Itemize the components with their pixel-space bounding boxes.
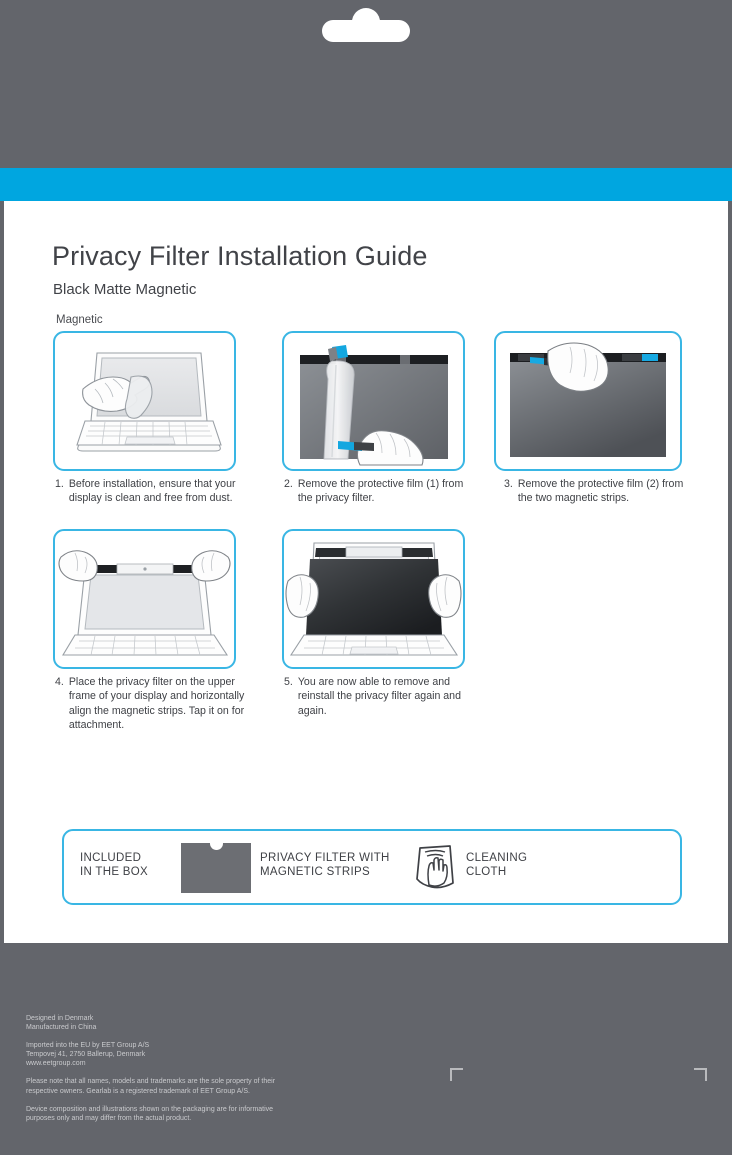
- footer-legal-text: Designed in Denmark Manufactured in Chin…: [26, 1014, 286, 1123]
- accent-band: [0, 168, 732, 201]
- step-3-number: 3.: [504, 477, 513, 506]
- step-3-illustration: [494, 331, 682, 471]
- instruction-card: Privacy Filter Installation Guide Black …: [4, 201, 728, 943]
- step-3-caption: 3. Remove the protective film (2) from t…: [504, 477, 696, 506]
- step-4-illustration: [53, 529, 236, 669]
- step-2-caption: 2. Remove the protective film (1) from t…: [284, 477, 474, 506]
- step-5-number: 5.: [284, 675, 293, 718]
- step-1-text: Before installation, ensure that your di…: [69, 477, 245, 506]
- included-in-box-panel: INCLUDED IN THE BOX PRIVACY FILTER WITH …: [62, 829, 682, 905]
- privacy-filter-sheet-icon: [181, 843, 251, 893]
- section-label: Magnetic: [56, 314, 103, 326]
- step-5-text: You are now able to remove and reinstall…: [298, 675, 474, 718]
- footer-trademark-note: Please note that all names, models and t…: [26, 1077, 286, 1095]
- step-2-text: Remove the protective film (1) from the …: [298, 477, 474, 506]
- hanger-slot-knob: [352, 8, 380, 36]
- step-2-illustration: [282, 331, 465, 471]
- step-1-illustration: [53, 331, 236, 471]
- included-item-filter-label: PRIVACY FILTER WITH MAGNETIC STRIPS: [260, 851, 390, 879]
- footer-importer: Imported into the EU by EET Group A/S Te…: [26, 1041, 286, 1068]
- footer-origin: Designed in Denmark Manufactured in Chin…: [26, 1014, 286, 1032]
- step-1-caption: 1. Before installation, ensure that your…: [55, 477, 245, 506]
- crop-mark-right: [694, 1068, 707, 1081]
- footer-disclaimer: Device composition and illustrations sho…: [26, 1105, 286, 1123]
- step-4-caption: 4. Place the privacy filter on the upper…: [55, 675, 245, 733]
- cleaning-cloth-icon: [412, 843, 458, 891]
- step-4-text: Place the privacy filter on the upper fr…: [69, 675, 245, 733]
- page-title: Privacy Filter Installation Guide: [52, 241, 427, 272]
- step-5-caption: 5. You are now able to remove and reinst…: [284, 675, 474, 718]
- crop-mark-left: [450, 1068, 463, 1081]
- step-3-text: Remove the protective film (2) from the …: [518, 477, 696, 506]
- included-label: INCLUDED IN THE BOX: [80, 851, 148, 879]
- step-2-number: 2.: [284, 477, 293, 506]
- step-5-illustration: [282, 529, 465, 669]
- step-1-number: 1.: [55, 477, 64, 506]
- step-4-number: 4.: [55, 675, 64, 733]
- page-subtitle: Black Matte Magnetic: [53, 281, 196, 298]
- included-item-cloth-label: CLEANING CLOTH: [466, 851, 527, 879]
